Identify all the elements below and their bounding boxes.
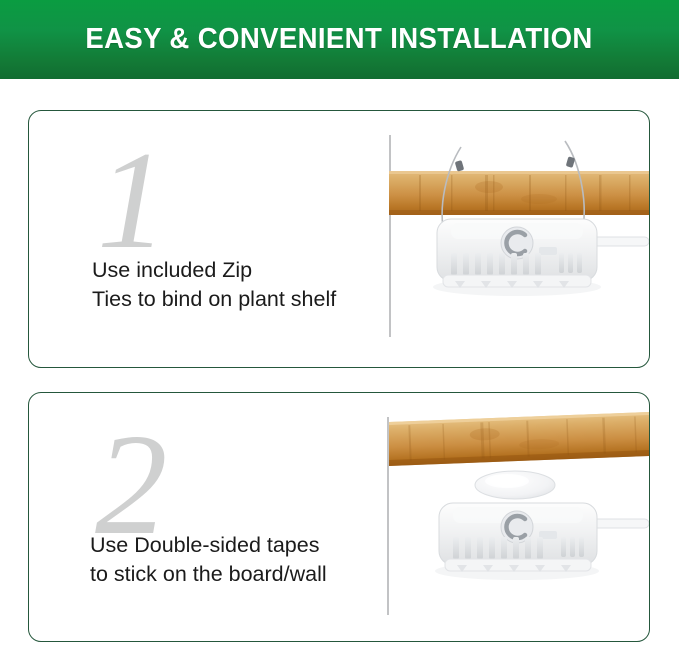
step-1-instruction-line-2: Ties to bind on plant shelf (92, 285, 336, 314)
step-1-text-column: 1 Use included Zip Ties to bind on plant… (29, 111, 389, 367)
step-1-instruction: Use included Zip Ties to bind on plant s… (92, 256, 336, 314)
step-1-number: 1 (97, 131, 167, 271)
installation-step-card-2: 2 Use Double-sided tapes to stick on the… (28, 392, 650, 642)
installation-step-card-1: 1 Use included Zip Ties to bind on plant… (28, 110, 650, 368)
double-sided-tape-disc (475, 471, 555, 499)
page-title: EASY & CONVENIENT INSTALLATION (86, 23, 593, 56)
bamboo-plant-shelf (389, 171, 649, 215)
double-sided-tape-mount-illustration (389, 393, 649, 641)
wood-board (389, 411, 649, 466)
step-2-instruction-line-2: to stick on the board/wall (90, 560, 327, 589)
zip-tie-mount-illustration (389, 111, 649, 367)
zip-tie-heads (455, 156, 575, 171)
led-grow-light-fixture (433, 219, 601, 296)
step-2-instruction: Use Double-sided tapes to stick on the b… (90, 531, 327, 589)
page-header-banner: EASY & CONVENIENT INSTALLATION (0, 0, 679, 79)
step-2-text-column: 2 Use Double-sided tapes to stick on the… (29, 393, 389, 641)
step-1-instruction-line-1: Use included Zip (92, 256, 336, 285)
step-2-instruction-line-1: Use Double-sided tapes (90, 531, 327, 560)
led-grow-light-fixture (435, 503, 599, 580)
